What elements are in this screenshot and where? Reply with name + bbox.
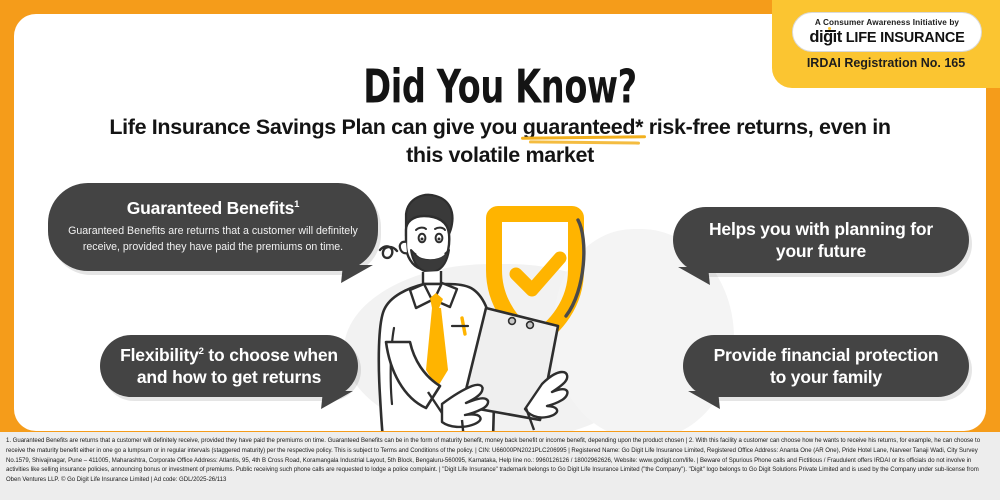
checkmark-icon <box>516 258 560 290</box>
clipboard-clip-2 <box>527 322 534 329</box>
disclaimer-text: 1. Guaranteed Benefits are returns that … <box>0 432 1000 500</box>
logo-dot-icon <box>828 27 831 30</box>
pupil-right <box>438 238 441 241</box>
clipboard-clip-1 <box>509 318 516 325</box>
bubble-tail-icon <box>321 391 353 409</box>
bubble-line-2: and how to get returns <box>119 366 339 388</box>
bubble-title: Guaranteed Benefits1 <box>127 198 299 219</box>
badge-kicker: A Consumer Awareness Initiative by <box>815 18 959 27</box>
smile <box>418 254 443 258</box>
neck <box>423 271 441 284</box>
brand-logo: digit LIFE INSURANCE <box>809 28 964 47</box>
pupil-left <box>421 238 424 241</box>
bubble-line-2: your future <box>758 240 884 262</box>
underline-stroke-1 <box>521 135 646 140</box>
irdai-registration-text: IRDAI Registration No. 165 <box>772 56 1000 70</box>
decor-squiggle <box>380 246 397 258</box>
highlight-guaranteed: guaranteed* <box>523 114 643 142</box>
bubble-guaranteed-benefits[interactable]: Guaranteed Benefits1 Guaranteed Benefits… <box>48 183 378 271</box>
brand-logo-suffix: LIFE INSURANCE <box>846 30 965 46</box>
bubble-planning[interactable]: Helps you with planning for your future <box>673 207 969 273</box>
brand-logo-digit: digit <box>809 28 841 47</box>
poster-root: Did You Know? Life Insurance Savings Pla… <box>0 0 1000 500</box>
ear <box>400 242 407 253</box>
subheadline-part-1: Life Insurance Savings Plan can give you <box>109 115 522 139</box>
bubble-tail-icon <box>341 265 373 283</box>
bubble-flexibility[interactable]: Flexibility2 to choose when and how to g… <box>100 335 358 397</box>
illustration-businessman-shield <box>366 192 636 431</box>
bubble-tail-icon <box>678 267 710 285</box>
bubble-line-1: Helps you with planning for <box>691 218 951 240</box>
bubble-body: Guaranteed Benefits are returns that a c… <box>52 224 374 256</box>
bubble-line-1: Flexibility2 to choose when <box>102 344 356 366</box>
logo-bar-icon <box>825 30 835 32</box>
bubble-superscript: 1 <box>294 199 299 210</box>
bubble-tail-icon <box>688 391 720 409</box>
bubble-line-1: Provide financial protection <box>696 344 957 366</box>
digit-logo-pill: A Consumer Awareness Initiative by digit… <box>792 12 982 52</box>
irdai-badge-block: A Consumer Awareness Initiative by digit… <box>772 0 1000 88</box>
bubble-line-2: to your family <box>752 366 900 388</box>
bubble-protection[interactable]: Provide financial protection to your fam… <box>683 335 969 397</box>
subheadline: Life Insurance Savings Plan can give you… <box>90 114 910 169</box>
